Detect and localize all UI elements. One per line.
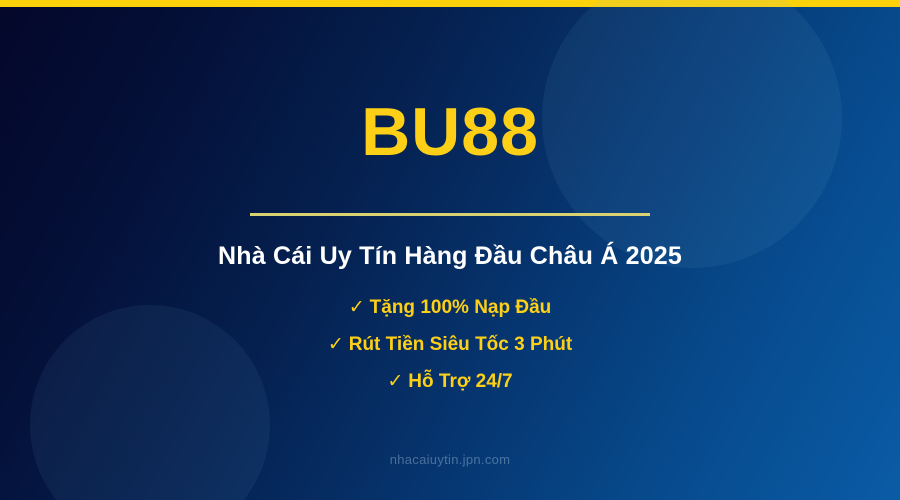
watermark-url: nhacaiuytin.jpn.com bbox=[0, 452, 900, 467]
list-item: ✓Tặng 100% Nạp Đầu bbox=[328, 298, 572, 317]
banner-subtitle: Nhà Cái Uy Tín Hàng Đầu Châu Á 2025 bbox=[218, 242, 682, 271]
promo-banner: BU88 Nhà Cái Uy Tín Hàng Đầu Châu Á 2025… bbox=[0, 0, 900, 500]
list-item: ✓Rút Tiền Siêu Tốc 3 Phút bbox=[328, 335, 572, 354]
check-icon: ✓ bbox=[328, 335, 344, 354]
feature-label: Rút Tiền Siêu Tốc 3 Phút bbox=[349, 334, 572, 355]
check-icon: ✓ bbox=[349, 298, 365, 317]
check-icon: ✓ bbox=[387, 372, 403, 391]
list-item: ✓Hỗ Trợ 24/7 bbox=[328, 372, 572, 391]
brand-title: BU88 bbox=[361, 98, 539, 166]
feature-label: Tặng 100% Nạp Đầu bbox=[370, 297, 552, 318]
feature-label: Hỗ Trợ 24/7 bbox=[408, 371, 512, 392]
banner-content: BU88 Nhà Cái Uy Tín Hàng Đầu Châu Á 2025… bbox=[0, 0, 900, 500]
feature-list: ✓Tặng 100% Nạp Đầu ✓Rút Tiền Siêu Tốc 3 … bbox=[328, 298, 572, 409]
title-divider bbox=[250, 213, 650, 216]
